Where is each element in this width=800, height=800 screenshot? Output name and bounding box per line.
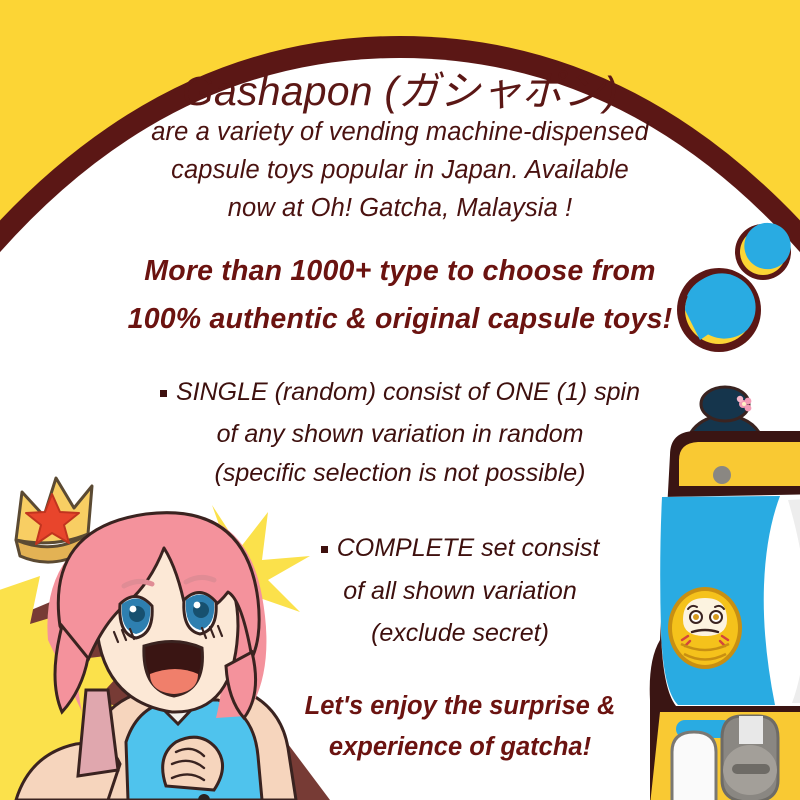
intro-line-2: capsule toys popular in Japan. Available	[0, 156, 800, 185]
page-title: Gashapon (ガシャポン)	[0, 57, 800, 117]
complete-option-line-3: (exclude secret)	[60, 619, 800, 648]
single-option-line-3: (specific selection is not possible)	[0, 459, 800, 488]
single-option-line-2: of any shown variation in random	[0, 420, 800, 449]
complete-option-text-1: COMPLETE set consist	[337, 534, 600, 562]
single-option-text-1: SINGLE (random) consist of ONE (1) spin	[176, 378, 640, 406]
complete-option-line-1: COMPLETE set consist	[60, 534, 800, 563]
complete-option-line-2: of all shown variation	[60, 577, 800, 606]
intro-line-1: are a variety of vending machine-dispens…	[0, 118, 800, 147]
bullet-square-icon	[160, 390, 167, 397]
outro-line-2: experience of gatcha!	[60, 733, 800, 762]
intro-line-3: now at Oh! Gatcha, Malaysia !	[0, 194, 800, 223]
highlight-line-1: More than 1000+ type to choose from	[0, 255, 800, 288]
poster-canvas: Gashapon (ガシャポン) are a variety of vendin…	[0, 0, 800, 800]
bullet-square-icon	[321, 546, 328, 553]
single-option-line-1: SINGLE (random) consist of ONE (1) spin	[0, 378, 800, 407]
outro-line-1: Let's enjoy the surprise &	[60, 692, 800, 721]
highlight-line-2: 100% authentic & original capsule toys!	[0, 303, 800, 336]
